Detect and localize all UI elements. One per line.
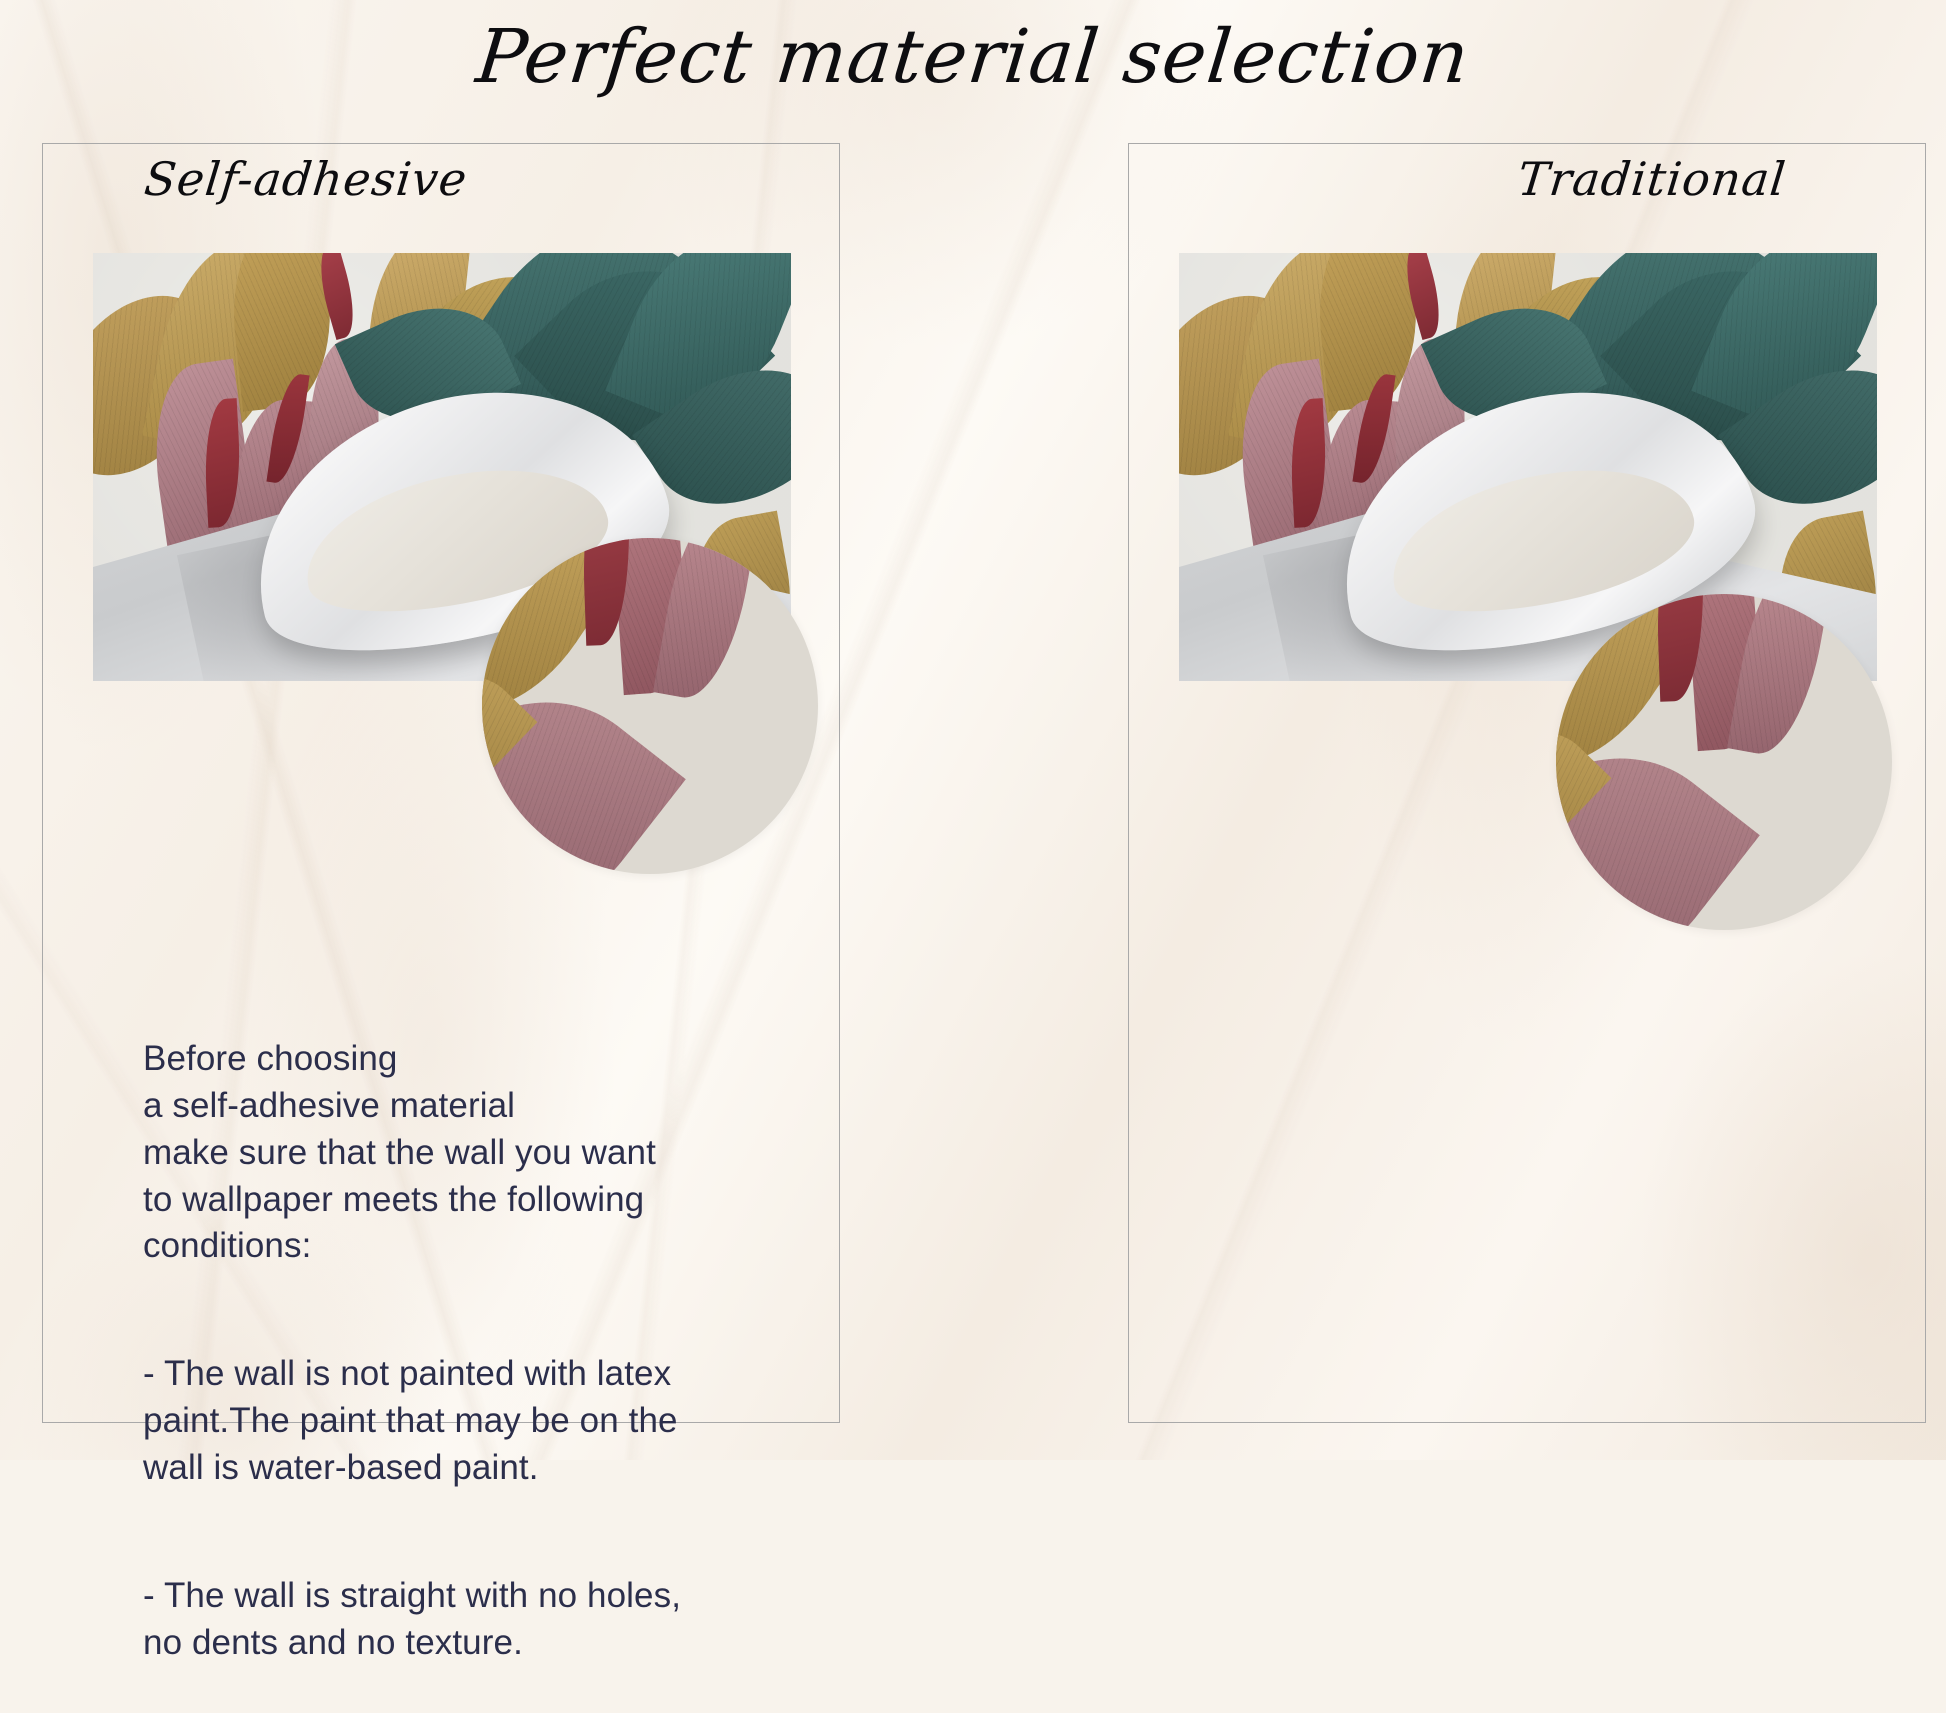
paragraph: - The wall is straight with no holes, no… [143,1573,743,1667]
copy-self-adhesive: Before choosing a self-adhesive material… [143,989,743,1713]
paragraph: - The wall is not painted with latex pai… [143,1351,743,1492]
magnifier-self-adhesive [482,538,818,874]
panel-heading-traditional: Traditional [1126,152,1928,206]
page-title: Perfect material selection [0,14,1946,100]
paragraph: Before choosing a self-adhesive material… [143,1036,743,1270]
magnifier-traditional [1556,594,1892,930]
magnifier-content [1556,594,1892,930]
panel-heading-self-adhesive: Self-adhesive [40,152,842,206]
magnifier-content [482,538,818,874]
